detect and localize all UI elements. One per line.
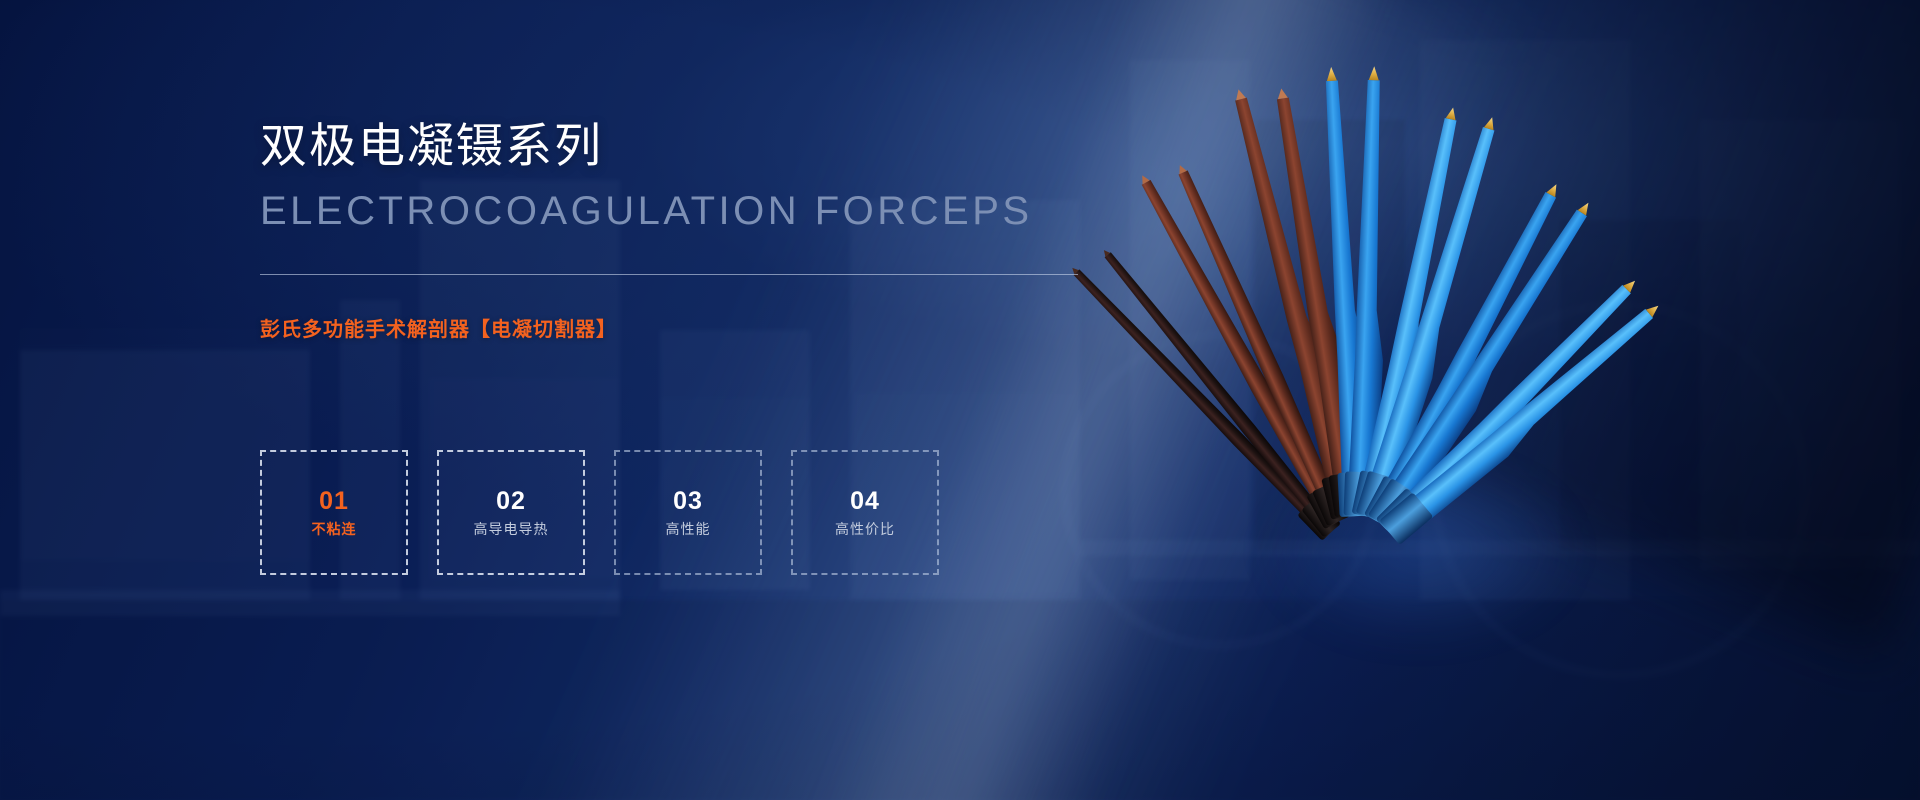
feature-label: 高性价比 <box>835 522 895 536</box>
forceps-group <box>1065 66 1670 547</box>
divider <box>260 274 1078 275</box>
banner-copy: 双极电凝镊系列 ELECTROCOAGULATION FORCEPS 彭氏多功能… <box>260 120 1120 342</box>
forceps-fan-illustration <box>1060 60 1680 620</box>
product-tagline: 彭氏多功能手术解剖器【电凝切割器】 <box>260 313 1120 342</box>
feature-item-02[interactable]: 02 高导电导热 <box>437 450 585 575</box>
page-title: 双极电凝镊系列 <box>260 120 1120 172</box>
feature-number: 04 <box>850 489 880 514</box>
feature-label: 高导电导热 <box>474 522 549 536</box>
feature-number: 01 <box>319 489 349 514</box>
feature-item-03[interactable]: 03 高性能 <box>614 450 762 575</box>
feature-item-01[interactable]: 01 不粘连 <box>260 450 408 575</box>
feature-label: 不粘连 <box>312 522 357 536</box>
feature-number: 03 <box>673 489 703 514</box>
page-subtitle-en: ELECTROCOAGULATION FORCEPS <box>260 188 1120 234</box>
product-banner: 双极电凝镊系列 ELECTROCOAGULATION FORCEPS 彭氏多功能… <box>0 0 1920 800</box>
product-image <box>1060 60 1680 620</box>
feature-number: 02 <box>496 489 526 514</box>
feature-item-04[interactable]: 04 高性价比 <box>791 450 939 575</box>
feature-list: 01 不粘连 02 高导电导热 03 高性能 04 高性价比 <box>260 450 939 575</box>
feature-label: 高性能 <box>666 522 711 536</box>
